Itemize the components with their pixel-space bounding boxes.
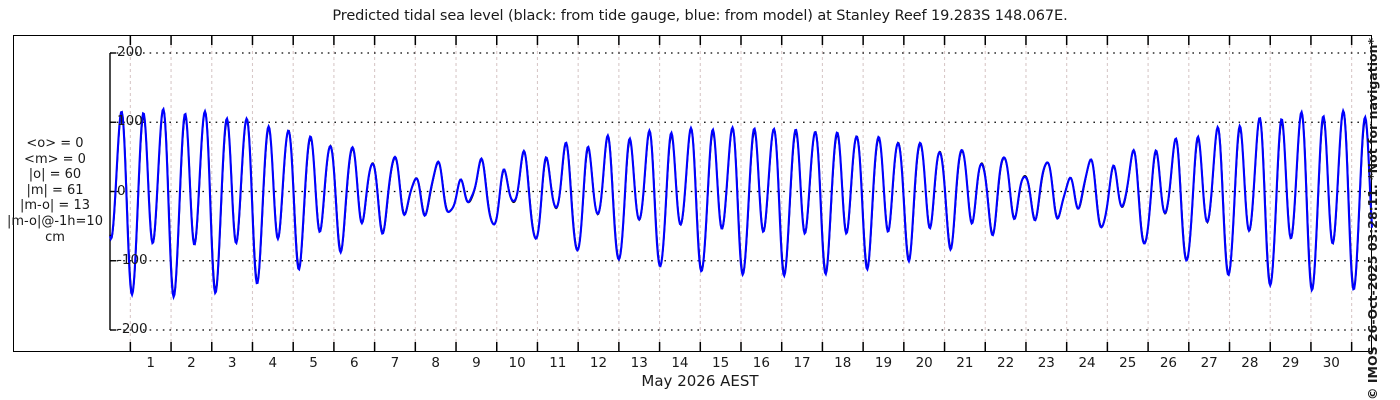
x-tick-label: 16 (741, 355, 781, 371)
statistic-line: <m> = 0 (2, 152, 108, 168)
x-tick-label: 6 (334, 355, 374, 371)
y-tick-label: -100 (117, 252, 148, 268)
x-tick-label: 28 (1230, 355, 1270, 371)
x-tick-label: 26 (1148, 355, 1188, 371)
x-tick-label: 8 (416, 355, 456, 371)
x-tick-label: 13 (619, 355, 659, 371)
x-tick-label: 17 (782, 355, 822, 371)
x-tick-label: 11 (538, 355, 578, 371)
x-tick-label: 1 (131, 355, 171, 371)
statistic-line: |o| = 60 (2, 167, 108, 183)
statistic-line: cm (2, 230, 108, 246)
copyright-credit: © IMOS 26-Oct-2025 03:28:11. *Not for na… (1365, 0, 1383, 400)
tidal-chart-page: Predicted tidal sea level (black: from t… (0, 0, 1400, 400)
statistics-panel: <o> = 0<m> = 0|o| = 60|m| = 61|m-o| = 13… (2, 136, 108, 245)
x-tick-label: 4 (253, 355, 293, 371)
y-tick-label: 200 (117, 44, 143, 60)
statistic-line: |m-o|@-1h=10 (2, 214, 108, 230)
x-tick-label: 15 (701, 355, 741, 371)
x-tick-label: 21 (945, 355, 985, 371)
y-tick-label: -200 (117, 321, 148, 337)
statistic-line: |m| = 61 (2, 183, 108, 199)
x-tick-label: 3 (212, 355, 252, 371)
y-tick-label: 100 (117, 113, 143, 129)
x-tick-label: 27 (1189, 355, 1229, 371)
x-tick-label: 22 (986, 355, 1026, 371)
x-tick-label: 14 (660, 355, 700, 371)
x-tick-label: 20 (904, 355, 944, 371)
y-tick-label: 0 (117, 183, 126, 199)
x-tick-label: 30 (1311, 355, 1351, 371)
x-tick-label: 12 (579, 355, 619, 371)
x-tick-label: 25 (1108, 355, 1148, 371)
x-axis-title: May 2026 AEST (0, 372, 1400, 390)
x-tick-label: 23 (1026, 355, 1066, 371)
x-tick-label: 10 (497, 355, 537, 371)
x-tick-label: 19 (863, 355, 903, 371)
x-tick-label: 7 (375, 355, 415, 371)
x-tick-label: 9 (456, 355, 496, 371)
x-tick-label: 29 (1271, 355, 1311, 371)
x-tick-label: 18 (823, 355, 863, 371)
statistic-line: <o> = 0 (2, 136, 108, 152)
plot-canvas (0, 0, 1400, 400)
x-tick-label: 5 (294, 355, 334, 371)
x-tick-label: 24 (1067, 355, 1107, 371)
statistic-line: |m-o| = 13 (2, 198, 108, 214)
x-tick-label: 2 (171, 355, 211, 371)
